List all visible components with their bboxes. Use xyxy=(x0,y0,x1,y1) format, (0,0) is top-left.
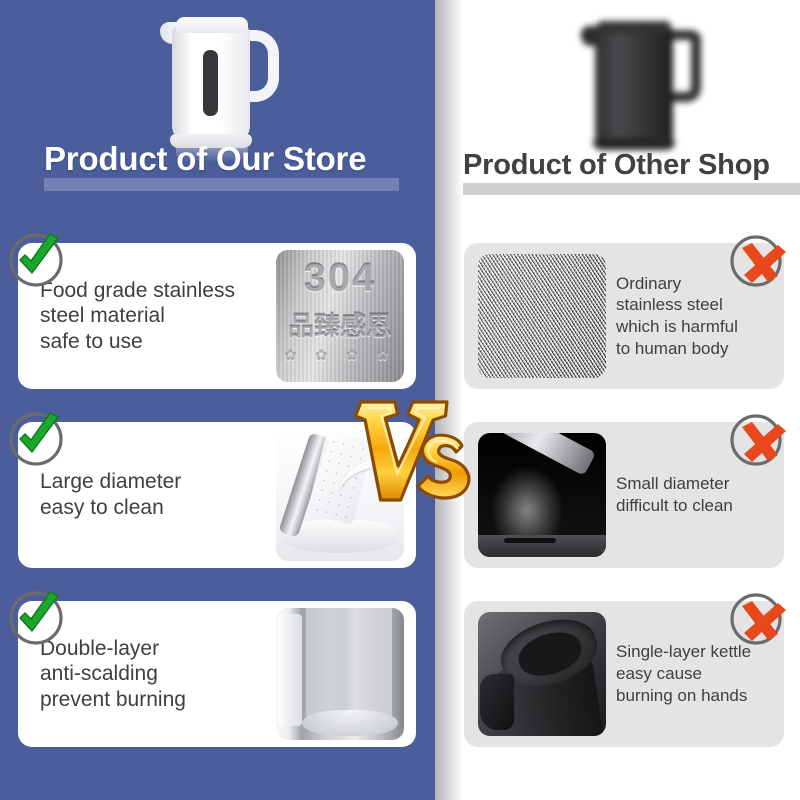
left-feature-text-1: Food grade stainless steel material safe… xyxy=(40,278,255,355)
stainless-304-stamp-photo: 304 品臻感恩 ✿ ✿ ✿ ✿ xyxy=(276,250,404,382)
double-layer-inner-wall-photo xyxy=(276,608,404,740)
left-feature-card-3: Double-layer anti-scalding prevent burni… xyxy=(18,601,416,747)
green-check-icon xyxy=(6,588,68,650)
kettle-spout xyxy=(480,674,514,730)
left-heading-underline xyxy=(44,178,399,191)
outer-shell-edge xyxy=(278,614,302,726)
steel-cjk-label: 品臻感恩 xyxy=(280,306,400,343)
kettle-slot xyxy=(504,538,556,543)
right-heading: Product of Other Shop xyxy=(463,149,770,182)
green-check-icon xyxy=(6,409,68,471)
red-cross-icon xyxy=(728,231,790,293)
left-feature-text-2: Large diameter easy to clean xyxy=(40,469,255,520)
kettle-lid xyxy=(176,17,248,33)
red-cross-icon xyxy=(728,410,790,472)
kettle-water-window xyxy=(203,50,218,116)
right-feature-text-2: Small diameter difficult to clean xyxy=(616,473,768,517)
steel-grade-label: 304 xyxy=(284,256,396,301)
right-feature-text-3: Single-layer kettle easy cause burning o… xyxy=(616,641,768,706)
single-layer-black-kettle-photo xyxy=(478,612,606,736)
kettle-body xyxy=(595,26,673,144)
steel-star-marks: ✿ ✿ ✿ ✿ xyxy=(280,346,400,364)
gold-vs-badge xyxy=(344,392,494,514)
comparison-infographic: Product of Our Store Product of Other Sh… xyxy=(0,0,800,800)
kettle-lid xyxy=(597,21,671,33)
left-feature-text-3: Double-layer anti-scalding prevent burni… xyxy=(40,636,255,713)
steam-cloud xyxy=(492,467,562,539)
left-heading: Product of Our Store xyxy=(44,140,366,178)
narrow-opening-steam-photo xyxy=(478,433,606,557)
red-cross-icon xyxy=(728,589,790,651)
inner-floor xyxy=(302,710,398,736)
ordinary-rough-steel-texture-photo xyxy=(478,254,606,378)
white-electric-kettle-icon xyxy=(150,8,285,148)
left-feature-card-1: Food grade stainless steel material safe… xyxy=(18,243,416,389)
black-electric-kettle-blurred-icon xyxy=(573,8,713,153)
green-check-icon xyxy=(6,230,68,292)
right-heading-underline xyxy=(463,183,800,195)
